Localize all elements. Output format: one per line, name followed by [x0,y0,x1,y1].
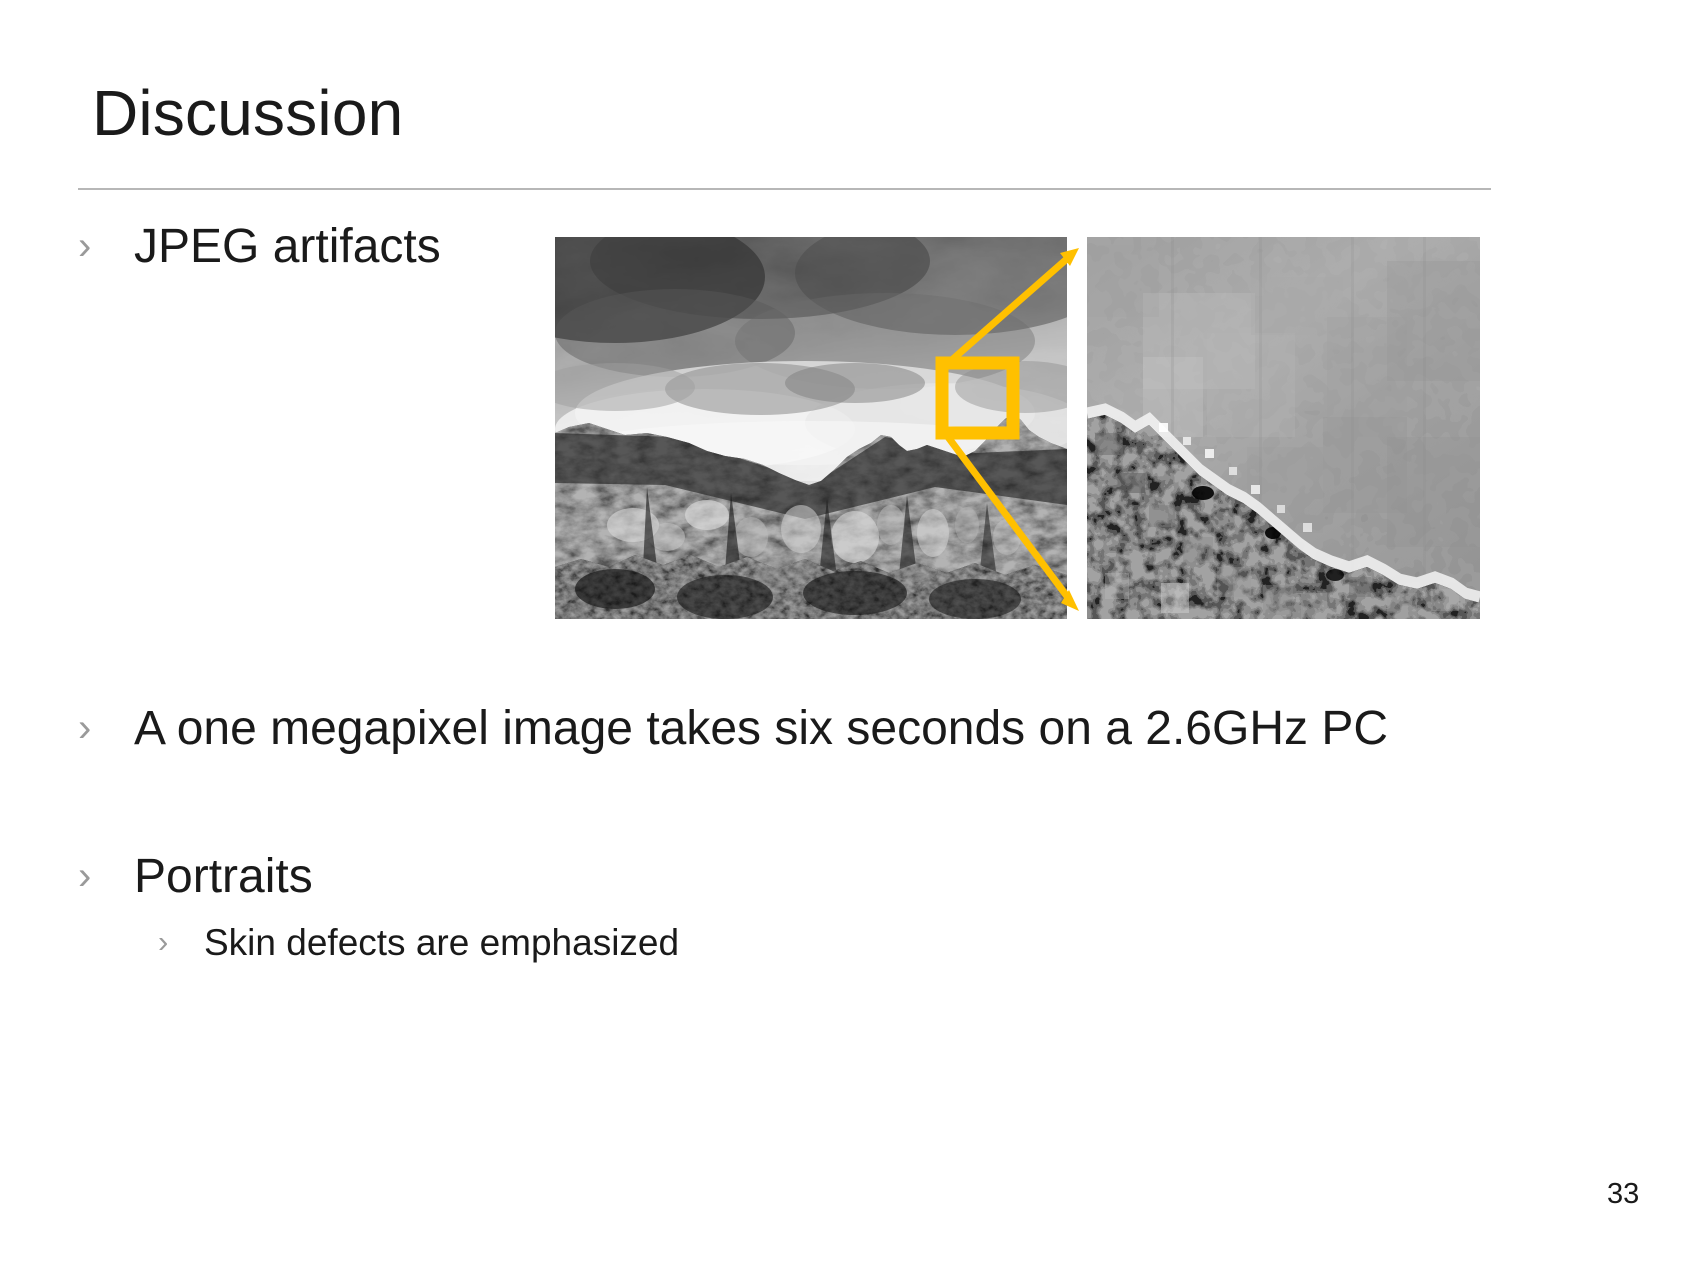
chevron-right-icon: › [78,700,134,748]
title-divider [78,188,1491,190]
bullet-skin-defects: › Skin defects are emphasized [158,920,679,965]
original-photo-graphic [555,237,1067,619]
zoomed-artifact-photo [1087,237,1480,619]
bullet-megapixel-timing: › A one megapixel image takes six second… [78,700,1478,759]
zoomed-artifact-graphic [1087,237,1480,619]
chevron-right-icon: › [78,218,134,266]
chevron-right-icon: › [158,920,204,957]
bullet-label: Skin defects are emphasized [204,920,679,965]
bullet-portraits: › Portraits [78,848,313,907]
page-number: 33 [1607,1178,1639,1211]
slide-canvas: Discussion › JPEG artifacts [0,0,1700,1275]
chevron-right-icon: › [78,848,134,896]
jpeg-artifact-figure [555,237,1480,619]
original-photo [555,237,1067,619]
bullet-label: JPEG artifacts [134,218,441,277]
page-title: Discussion [92,78,403,148]
bullet-jpeg-artifacts: › JPEG artifacts [78,218,441,277]
bullet-label: A one megapixel image takes six seconds … [134,700,1388,759]
bullet-label: Portraits [134,848,313,907]
